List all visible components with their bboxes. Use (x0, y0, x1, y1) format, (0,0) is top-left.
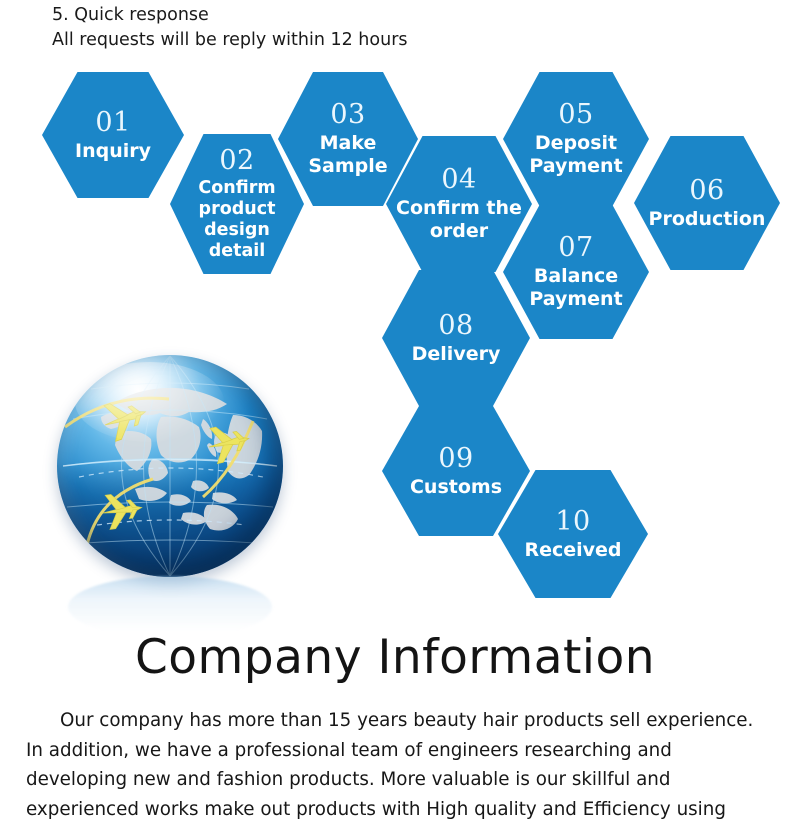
step-number: 05 (558, 100, 593, 130)
flow-step-05: 05 Deposit Payment (503, 72, 649, 206)
step-number: 04 (441, 165, 476, 195)
step-label: Delivery (412, 343, 501, 366)
page-root: 5. Quick response All requests will be r… (0, 0, 790, 830)
flow-step-01: 01 Inquiry (42, 72, 184, 198)
step-number: 08 (438, 311, 473, 341)
step-number: 09 (438, 444, 473, 474)
step-number: 01 (95, 108, 130, 138)
step-number: 02 (219, 146, 254, 176)
step-label: Customs (410, 476, 502, 499)
globe-reflection (68, 576, 272, 638)
flow-step-06: 06 Production (634, 136, 780, 270)
flow-step-10: 10 Received (498, 470, 648, 598)
step-label: Received (524, 539, 621, 562)
company-information-title: Company Information (0, 630, 790, 686)
globe-illustration (52, 352, 292, 602)
step-label: Inquiry (75, 140, 151, 163)
step-number: 03 (330, 100, 365, 130)
step-number: 07 (558, 233, 593, 263)
flow-step-08: 08 Delivery (382, 270, 530, 406)
step-label: Production (649, 208, 766, 231)
company-information-body: Our company has more than 15 years beaut… (26, 706, 770, 830)
globe-icon (57, 355, 283, 577)
step-number: 10 (555, 507, 590, 537)
step-number: 06 (689, 176, 724, 206)
step-label: Deposit Payment (509, 132, 643, 178)
globe-rim-shadow (57, 355, 283, 577)
